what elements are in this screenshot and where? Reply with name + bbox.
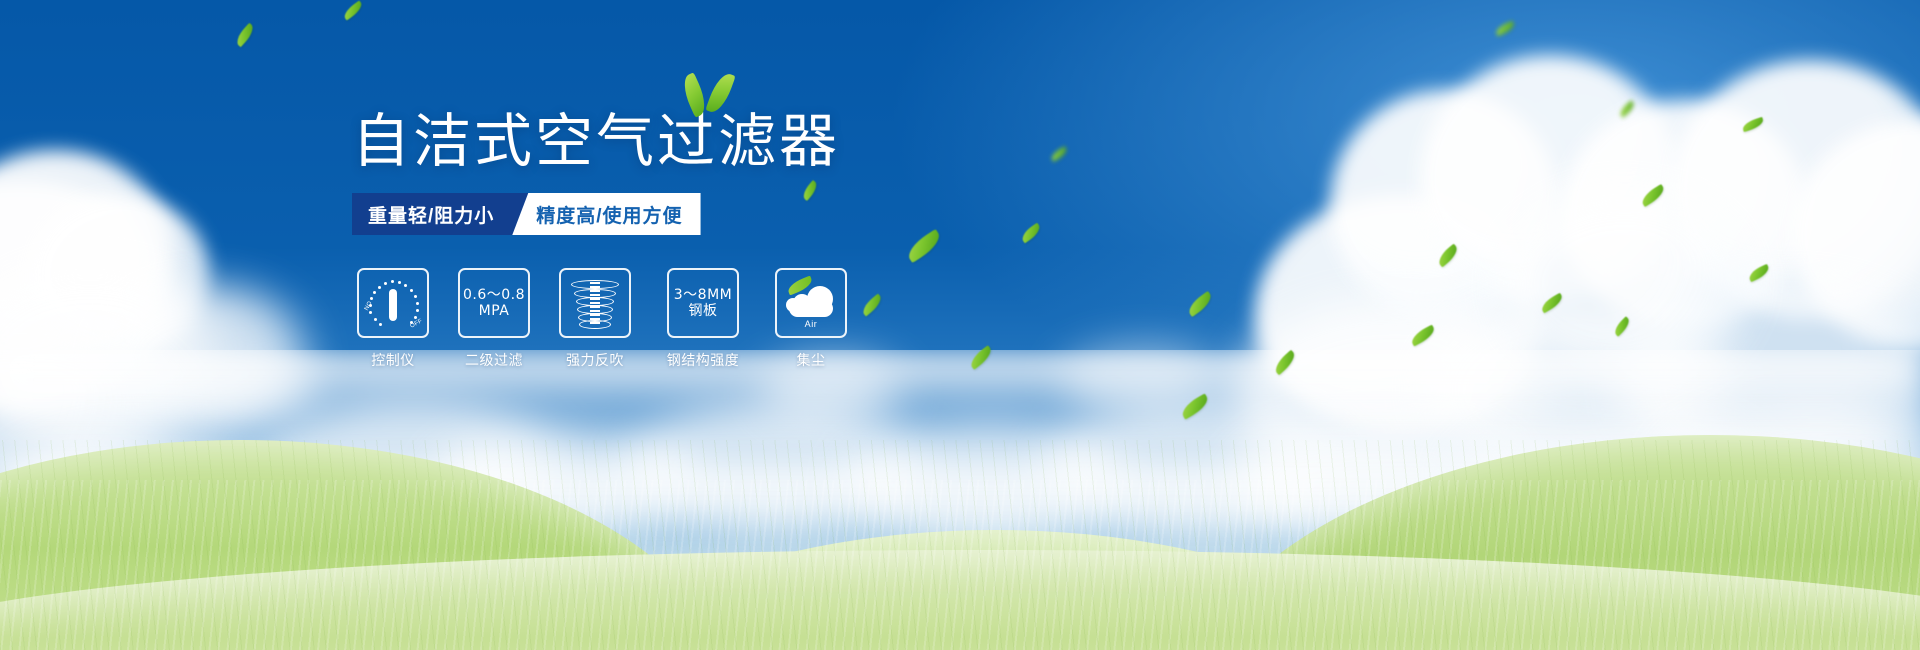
feature-item[interactable]: Air 集尘 [775, 268, 847, 370]
steel-line-1: 3～8MM [674, 287, 732, 303]
feature-item[interactable]: 3～8MM 钢板 钢结构强度 [660, 268, 746, 370]
gauge-start-label: NO [364, 300, 374, 311]
leaf-sprout-icon [682, 68, 742, 120]
pressure-text-icon: 0.6～0.8 MPA [463, 287, 525, 319]
page-title: 自洁式空气过滤器 [352, 112, 840, 170]
gauge-dial-icon: NO OFF [365, 277, 421, 329]
feature-label: 强力反吹 [566, 350, 624, 370]
feature-item[interactable]: NO OFF 控制仪 [357, 268, 429, 370]
air-text: Air [783, 319, 839, 329]
banner-content: 自洁式空气过滤器 重量轻/阻力小 精度高/使用方便 [0, 0, 1920, 650]
steel-line-2: 钢板 [674, 303, 732, 319]
tagline-left: 重量轻/阻力小 [352, 193, 528, 235]
feature-card-backblow [559, 268, 631, 338]
feature-label: 二级过滤 [465, 350, 523, 370]
feature-card-dust: Air [775, 268, 847, 338]
feature-label: 钢结构强度 [667, 350, 740, 370]
feature-list: NO OFF 控制仪 0.6～0.8 MPA 二级过滤 [357, 268, 847, 370]
feature-label: 控制仪 [371, 350, 415, 370]
feature-item[interactable]: 强力反吹 [559, 268, 631, 370]
feature-label: 集尘 [797, 350, 826, 370]
feature-item[interactable]: 0.6～0.8 MPA 二级过滤 [458, 268, 530, 370]
feature-card-pressure: 0.6～0.8 MPA [458, 268, 530, 338]
tagline-right: 精度高/使用方便 [512, 193, 700, 235]
tagline-badge: 重量轻/阻力小 精度高/使用方便 [352, 193, 701, 235]
pressure-line-1: 0.6～0.8 [463, 287, 525, 303]
coil-filter-icon [571, 278, 619, 328]
feature-card-steel: 3～8MM 钢板 [667, 268, 739, 338]
product-banner: 自洁式空气过滤器 重量轻/阻力小 精度高/使用方便 [0, 0, 1920, 650]
pressure-line-2: MPA [463, 303, 525, 319]
title-block: 自洁式空气过滤器 [352, 112, 840, 170]
steel-plate-text-icon: 3～8MM 钢板 [674, 287, 732, 319]
cloud-air-icon: Air [783, 278, 839, 328]
feature-card-control: NO OFF [357, 268, 429, 338]
